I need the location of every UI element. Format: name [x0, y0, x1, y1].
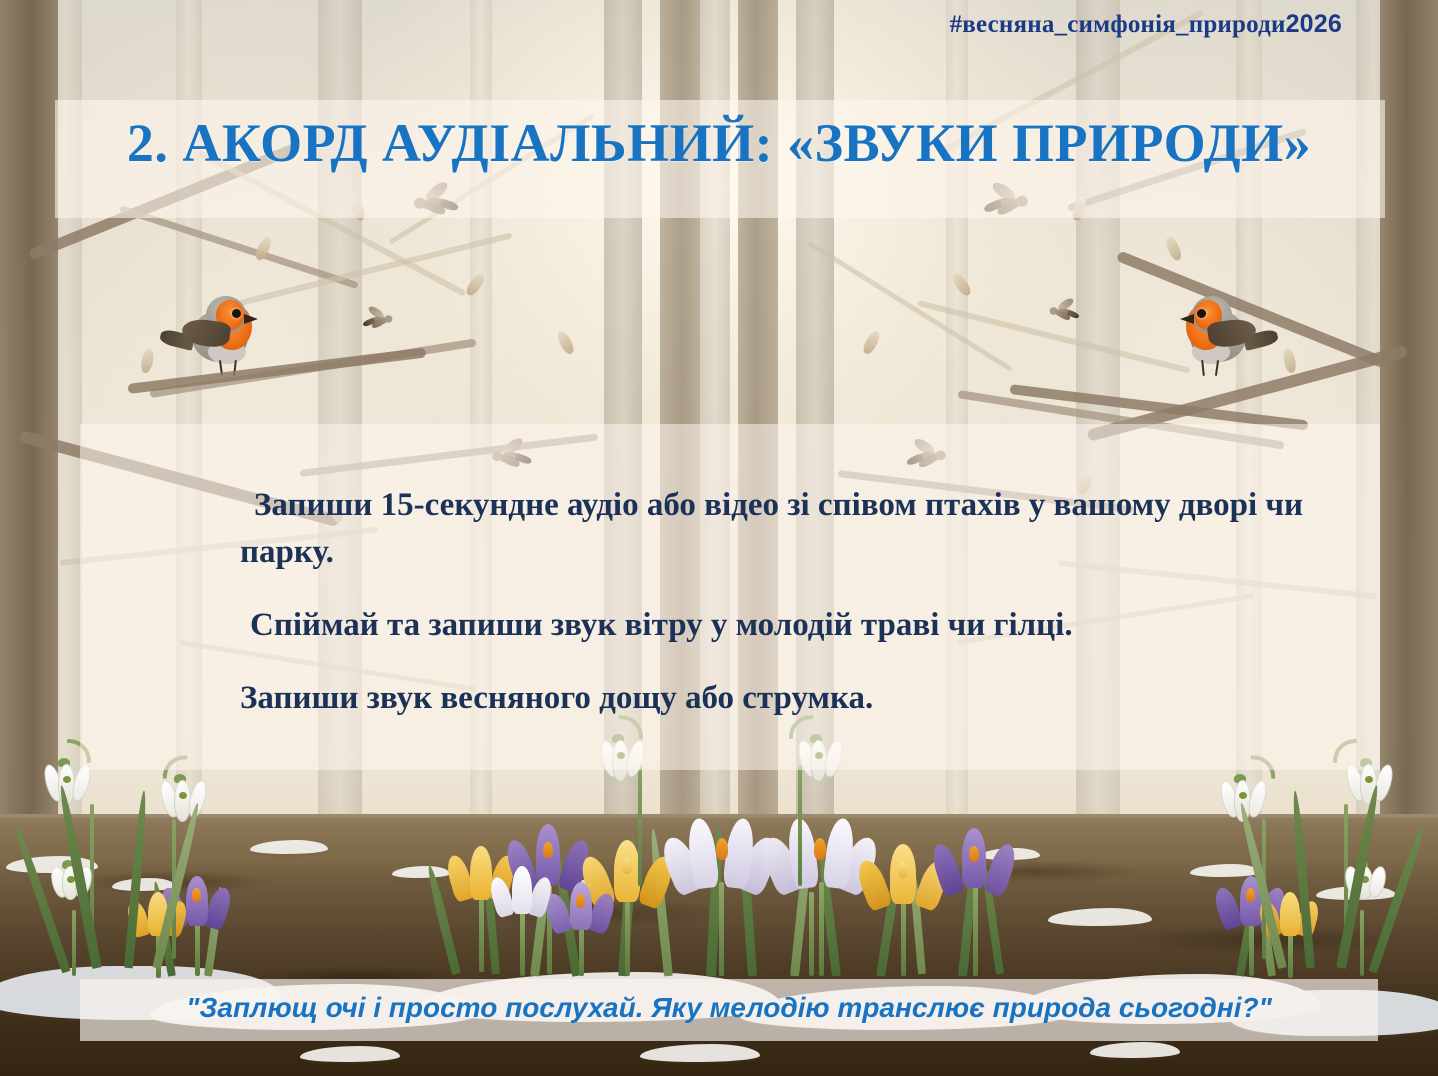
snowdrop-petal: [821, 739, 845, 780]
crocus-flower: [552, 878, 610, 976]
crocus-stamen: [898, 862, 908, 878]
crocus-stamen: [969, 846, 979, 862]
bird-head: [1016, 196, 1028, 207]
snowdrop-petal: [1245, 779, 1269, 820]
snowdrop-marking: [63, 776, 71, 783]
task-item-1: Запиши 15-секундне аудіо або відео зі сп…: [240, 482, 1320, 576]
snowdrop-flower: [596, 706, 666, 886]
task-item-2: Спіймай та запиши звук вітру у молодій т…: [240, 602, 1320, 649]
bird-head: [935, 450, 946, 460]
crocus-flower: [496, 864, 548, 976]
crocus-stem: [901, 894, 906, 976]
page-title: 2. АКОРД АУДІАЛЬНИЙ: «ЗВУКИ ПРИРОДИ»: [0, 112, 1438, 174]
robin-beak: [244, 314, 258, 324]
snowdrop-marking: [1365, 776, 1373, 783]
slide-canvas: #весняна_симфонія_природи2026 2. АКОРД А…: [0, 0, 1438, 1076]
crocus-stem: [719, 882, 724, 976]
snowdrop-petal: [69, 763, 94, 804]
snowdrop-marking: [179, 792, 187, 799]
task-item-3: Запиши звук весняного дощу або струмка.: [240, 675, 1320, 722]
crocus-stamen: [543, 842, 553, 858]
snowdrop-petal: [185, 779, 209, 820]
snowdrop-stem: [798, 766, 802, 886]
snowdrop-petal: [623, 739, 647, 780]
crocus-flower: [868, 840, 938, 976]
hashtag-year: 2026: [1286, 10, 1342, 38]
snow-patch: [250, 840, 328, 854]
snowdrop-marking: [815, 752, 823, 759]
snowdrop-arc: [1331, 739, 1359, 764]
flying-bird-4: [1048, 303, 1075, 319]
snowdrop-marking: [1239, 792, 1247, 799]
snowdrop-stem: [1360, 910, 1364, 976]
crocus-stem: [520, 912, 525, 976]
flying-bird-5: [490, 443, 533, 470]
hashtag-label: #весняна_симфонія_природи2026: [950, 10, 1342, 39]
crocus-flower: [678, 812, 764, 976]
crocus-stem: [973, 886, 978, 976]
robin-eye: [1197, 309, 1206, 318]
crocus-stamen: [576, 894, 585, 908]
crocus-stem: [625, 892, 630, 976]
snowdrop-arc: [1249, 755, 1276, 779]
crocus-petal: [512, 866, 532, 914]
flying-bird-3: [366, 311, 393, 327]
snowdrop-flower: [774, 706, 844, 886]
robin-beak: [1180, 314, 1194, 324]
crocus-petal: [470, 846, 492, 900]
robin-bird-right: [1170, 296, 1262, 382]
crocus-stem: [809, 892, 814, 976]
hashtag-text: #весняна_симфонія_природи: [950, 11, 1286, 38]
flying-bird-6: [907, 445, 948, 470]
robin-eye: [232, 309, 241, 318]
flying-bird-1: [411, 187, 465, 222]
crocus-stem: [479, 890, 484, 972]
crocus-flower: [942, 826, 1008, 976]
snowdrop-stem: [72, 910, 76, 976]
task-list: Запиши 15-секундне аудіо або відео зі сп…: [240, 482, 1320, 721]
crocus-stamen: [716, 838, 728, 860]
snowdrop-marking: [617, 752, 625, 759]
snowdrop-stem: [638, 766, 642, 886]
footer-quote: "Заплющ очі і просто послухай. Яку мелод…: [80, 992, 1378, 1024]
flying-bird-2: [978, 189, 1030, 218]
snow-patch: [392, 866, 450, 878]
